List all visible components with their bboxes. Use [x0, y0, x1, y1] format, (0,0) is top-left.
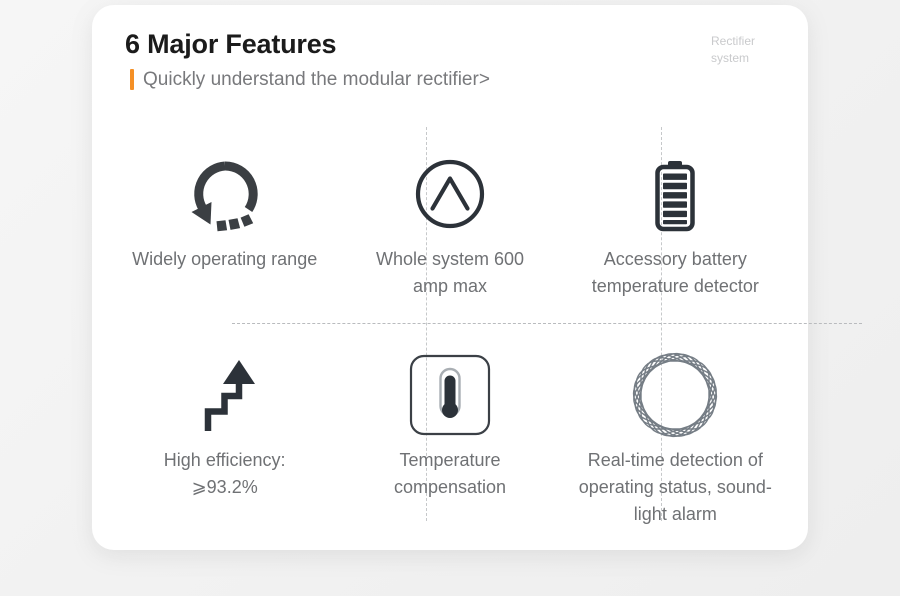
page-background: 6 Major Features Quickly understand the …: [0, 0, 900, 596]
feature-cell-battery-temperature: Accessory battery temperature detector: [563, 120, 788, 323]
features-card: 6 Major Features Quickly understand the …: [92, 5, 808, 550]
feature-label: Real-time detection of operating status,…: [579, 447, 772, 528]
corner-tag-line2: system: [711, 50, 781, 67]
thermometer-icon: [407, 349, 493, 441]
corner-tag-line1: Rectifier: [711, 33, 781, 50]
feature-label: Accessory battery temperature detector: [592, 246, 759, 300]
card-header: 6 Major Features Quickly understand the …: [125, 27, 725, 91]
battery-icon: [636, 148, 714, 240]
spirograph-icon: [631, 349, 719, 441]
feature-label: High efficiency: ⩾93.2%: [164, 447, 286, 501]
feature-label: Whole system 600 amp max: [376, 246, 524, 300]
features-grid: Widely operating range Whole system 600 …: [112, 120, 788, 528]
feature-cell-widely-operating-range: Widely operating range: [112, 120, 337, 323]
circular-arrow-icon: [186, 148, 264, 240]
corner-tag: Rectifier system: [711, 33, 781, 67]
page-subtitle: Quickly understand the modular rectifier…: [143, 68, 490, 91]
page-title: 6 Major Features: [125, 27, 725, 61]
feature-label: Temperature compensation: [394, 447, 506, 501]
feature-label: Widely operating range: [132, 246, 317, 273]
feature-cell-realtime-detection: Real-time detection of operating status,…: [563, 323, 788, 528]
feature-cell-whole-system-amp: Whole system 600 amp max: [337, 120, 562, 323]
feature-cell-high-efficiency: High efficiency: ⩾93.2%: [112, 323, 337, 528]
subtitle-row: Quickly understand the modular rectifier…: [130, 68, 725, 91]
stairs-up-arrow-icon: [186, 349, 264, 441]
feature-cell-temperature-compensation: Temperature compensation: [337, 323, 562, 528]
accent-bar: [130, 69, 134, 90]
circle-chevron-icon: [411, 148, 489, 240]
